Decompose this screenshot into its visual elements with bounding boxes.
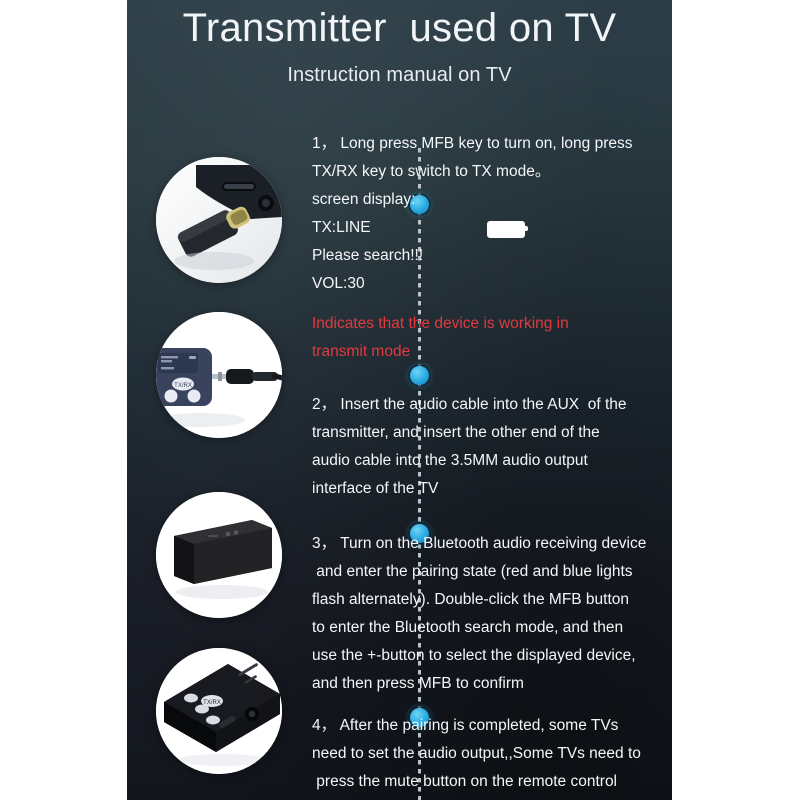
step-2-line-4: interface of the TV (312, 475, 672, 503)
header: Transmitter used on TV Instruction manua… (127, 0, 672, 87)
step-1-note: Indicates that the device is working int… (312, 310, 672, 366)
step-1-line-1: 1， Long press MFB key to turn on, long p… (312, 130, 672, 158)
page-title: Transmitter used on TV (127, 0, 672, 50)
step-1-note-line-1: Indicates that the device is working in (312, 310, 672, 338)
step-1-line-5: Please search!!! (312, 242, 672, 270)
instruction-panel: Transmitter used on TV Instruction manua… (127, 0, 672, 800)
step-2-line-2: transmitter, and insert the other end of… (312, 419, 672, 447)
step-4-line-2: need to set the audio output,,Some TVs n… (312, 740, 672, 768)
step-1-line-2: TX/RX key to switch to TX mode。 (312, 158, 672, 186)
step-1-line-3: screen display: (312, 186, 672, 214)
step-3-line-2: and enter the pairing state (red and blu… (312, 558, 672, 586)
step-2: 2， Insert the audio cable into the AUX o… (312, 391, 672, 503)
step-3-line-6: and then press MFB to confirm (312, 670, 672, 698)
step-3-line-4: to enter the Bluetooth search mode, and … (312, 614, 672, 642)
step-2-line-3: audio cable into the 3.5MM audio output (312, 447, 672, 475)
step-4: 4， After the pairing is completed, some … (312, 712, 672, 796)
step-3-line-1: 3， Turn on the Bluetooth audio receiving… (312, 530, 672, 558)
infographic-page: Transmitter used on TV Instruction manua… (0, 0, 800, 800)
step-1-note-line-2: transmit mode (312, 338, 672, 366)
step-1-line-4: TX:LINE (312, 214, 672, 242)
step-3-line-5: use the +-button to select the displayed… (312, 642, 672, 670)
page-subtitle: Instruction manual on TV (127, 50, 672, 87)
steps-layer: 1， Long press MFB key to turn on, long p… (127, 0, 672, 800)
step-4-line-3: press the mute button on the remote cont… (312, 768, 672, 796)
step-3-line-3: flash alternately). Double-click the MFB… (312, 586, 672, 614)
step-1: 1， Long press MFB key to turn on, long p… (312, 130, 672, 298)
step-2-line-1: 2， Insert the audio cable into the AUX o… (312, 391, 672, 419)
step-4-line-1: 4， After the pairing is completed, some … (312, 712, 672, 740)
step-3: 3， Turn on the Bluetooth audio receiving… (312, 530, 672, 698)
battery-icon (487, 221, 525, 238)
step-1-line-6: VOL:30 (312, 270, 672, 298)
